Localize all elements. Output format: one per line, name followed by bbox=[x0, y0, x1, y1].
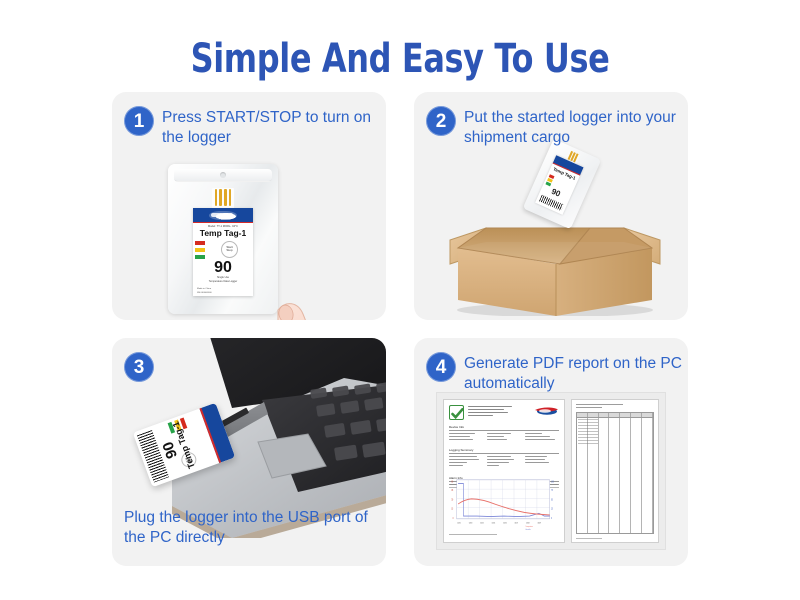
svg-text:04/07: 04/07 bbox=[515, 522, 518, 524]
usb-contacts-icon bbox=[212, 188, 234, 210]
page-title: Simple And Easy To Use bbox=[80, 36, 720, 82]
svg-text:04/09: 04/09 bbox=[538, 522, 541, 524]
step-badge-4: 4 bbox=[426, 352, 456, 382]
logger-days-number: 90 bbox=[193, 260, 253, 276]
svg-text:04/04: 04/04 bbox=[480, 522, 483, 524]
start-stop-button[interactable]: Start Stop bbox=[221, 241, 238, 258]
svg-text:75: 75 bbox=[551, 490, 553, 492]
report-title-lines bbox=[468, 406, 530, 418]
step-text-2: Put the started logger into your shipmen… bbox=[464, 108, 682, 149]
shipment-box-illustration: Temp Tag-1 90 bbox=[440, 144, 670, 316]
stop-label: Stop bbox=[226, 248, 232, 252]
svg-text:100: 100 bbox=[551, 481, 554, 483]
svg-text:15: 15 bbox=[451, 508, 453, 510]
hand-pressing-icon bbox=[272, 292, 386, 320]
report-section-heading: Logging Summary bbox=[449, 448, 559, 454]
report-table-title bbox=[576, 404, 654, 409]
logger-product-name: Temp Tag-1 bbox=[193, 228, 253, 240]
logger-model-line: Model: TT-1 MORL- 04°C bbox=[195, 223, 252, 227]
svg-text:0: 0 bbox=[453, 518, 454, 520]
svg-text:04/02: 04/02 bbox=[457, 522, 460, 524]
logger-sub-line-2: Temperature Data Logger bbox=[193, 280, 253, 284]
report-footer-line bbox=[576, 538, 602, 539]
svg-text:04/08: 04/08 bbox=[526, 522, 529, 524]
chart-legend-temperature: Temperature bbox=[525, 525, 533, 528]
svg-text:04/06: 04/06 bbox=[503, 522, 506, 524]
report-chart: 6045 30150 10075 50250 04/0204/0304/04 0… bbox=[450, 478, 558, 530]
svg-text:04/03: 04/03 bbox=[469, 522, 472, 524]
step-badge-3: 3 bbox=[124, 352, 154, 382]
step-text-1: Press START/STOP to turn on the logger bbox=[162, 108, 380, 149]
temp-logger-card: Temp Tag-1 90 bbox=[535, 155, 584, 215]
logger-pouch-illustration: Model: TT-1 MORL- 04°C Temp Tag-1 Start … bbox=[168, 164, 278, 314]
report-footer-lines bbox=[449, 534, 559, 536]
step-text-4: Generate PDF report on the PC automatica… bbox=[464, 354, 682, 395]
temp-logger-card: Model: TT-1 MORL- 04°C Temp Tag-1 Start … bbox=[193, 208, 253, 296]
report-field-grid bbox=[449, 456, 559, 468]
svg-text:50: 50 bbox=[551, 499, 553, 501]
svg-text:25: 25 bbox=[551, 508, 553, 510]
svg-text:0: 0 bbox=[551, 518, 552, 520]
report-field-grid bbox=[449, 433, 559, 442]
report-page-data-table bbox=[571, 399, 659, 543]
table-data-rows bbox=[578, 419, 598, 445]
step-badge-1: 1 bbox=[124, 106, 154, 136]
data-table bbox=[576, 412, 654, 534]
pouch-hang-hole bbox=[220, 172, 226, 178]
green-check-icon bbox=[449, 405, 464, 420]
svg-text:30: 30 bbox=[451, 499, 453, 501]
svg-text:60: 60 bbox=[451, 481, 453, 483]
svg-text:45: 45 bbox=[451, 490, 453, 492]
logger-header-band bbox=[193, 208, 253, 223]
report-page-summary: Device Info Logging Summary Alarm Info bbox=[443, 399, 565, 543]
svg-text:04/05: 04/05 bbox=[492, 522, 495, 524]
brand-logo-icon bbox=[533, 406, 559, 416]
step-badge-2: 2 bbox=[426, 106, 456, 136]
pdf-report-illustration: Device Info Logging Summary Alarm Info bbox=[436, 392, 666, 550]
status-color-bars bbox=[195, 241, 205, 259]
logger-footer-line-2: SN 000000000 bbox=[197, 292, 249, 295]
report-section-heading: Device Info bbox=[449, 425, 559, 431]
step-text-3: Plug the logger into the USB port of the… bbox=[124, 508, 370, 549]
brand-logo-icon bbox=[209, 211, 237, 220]
